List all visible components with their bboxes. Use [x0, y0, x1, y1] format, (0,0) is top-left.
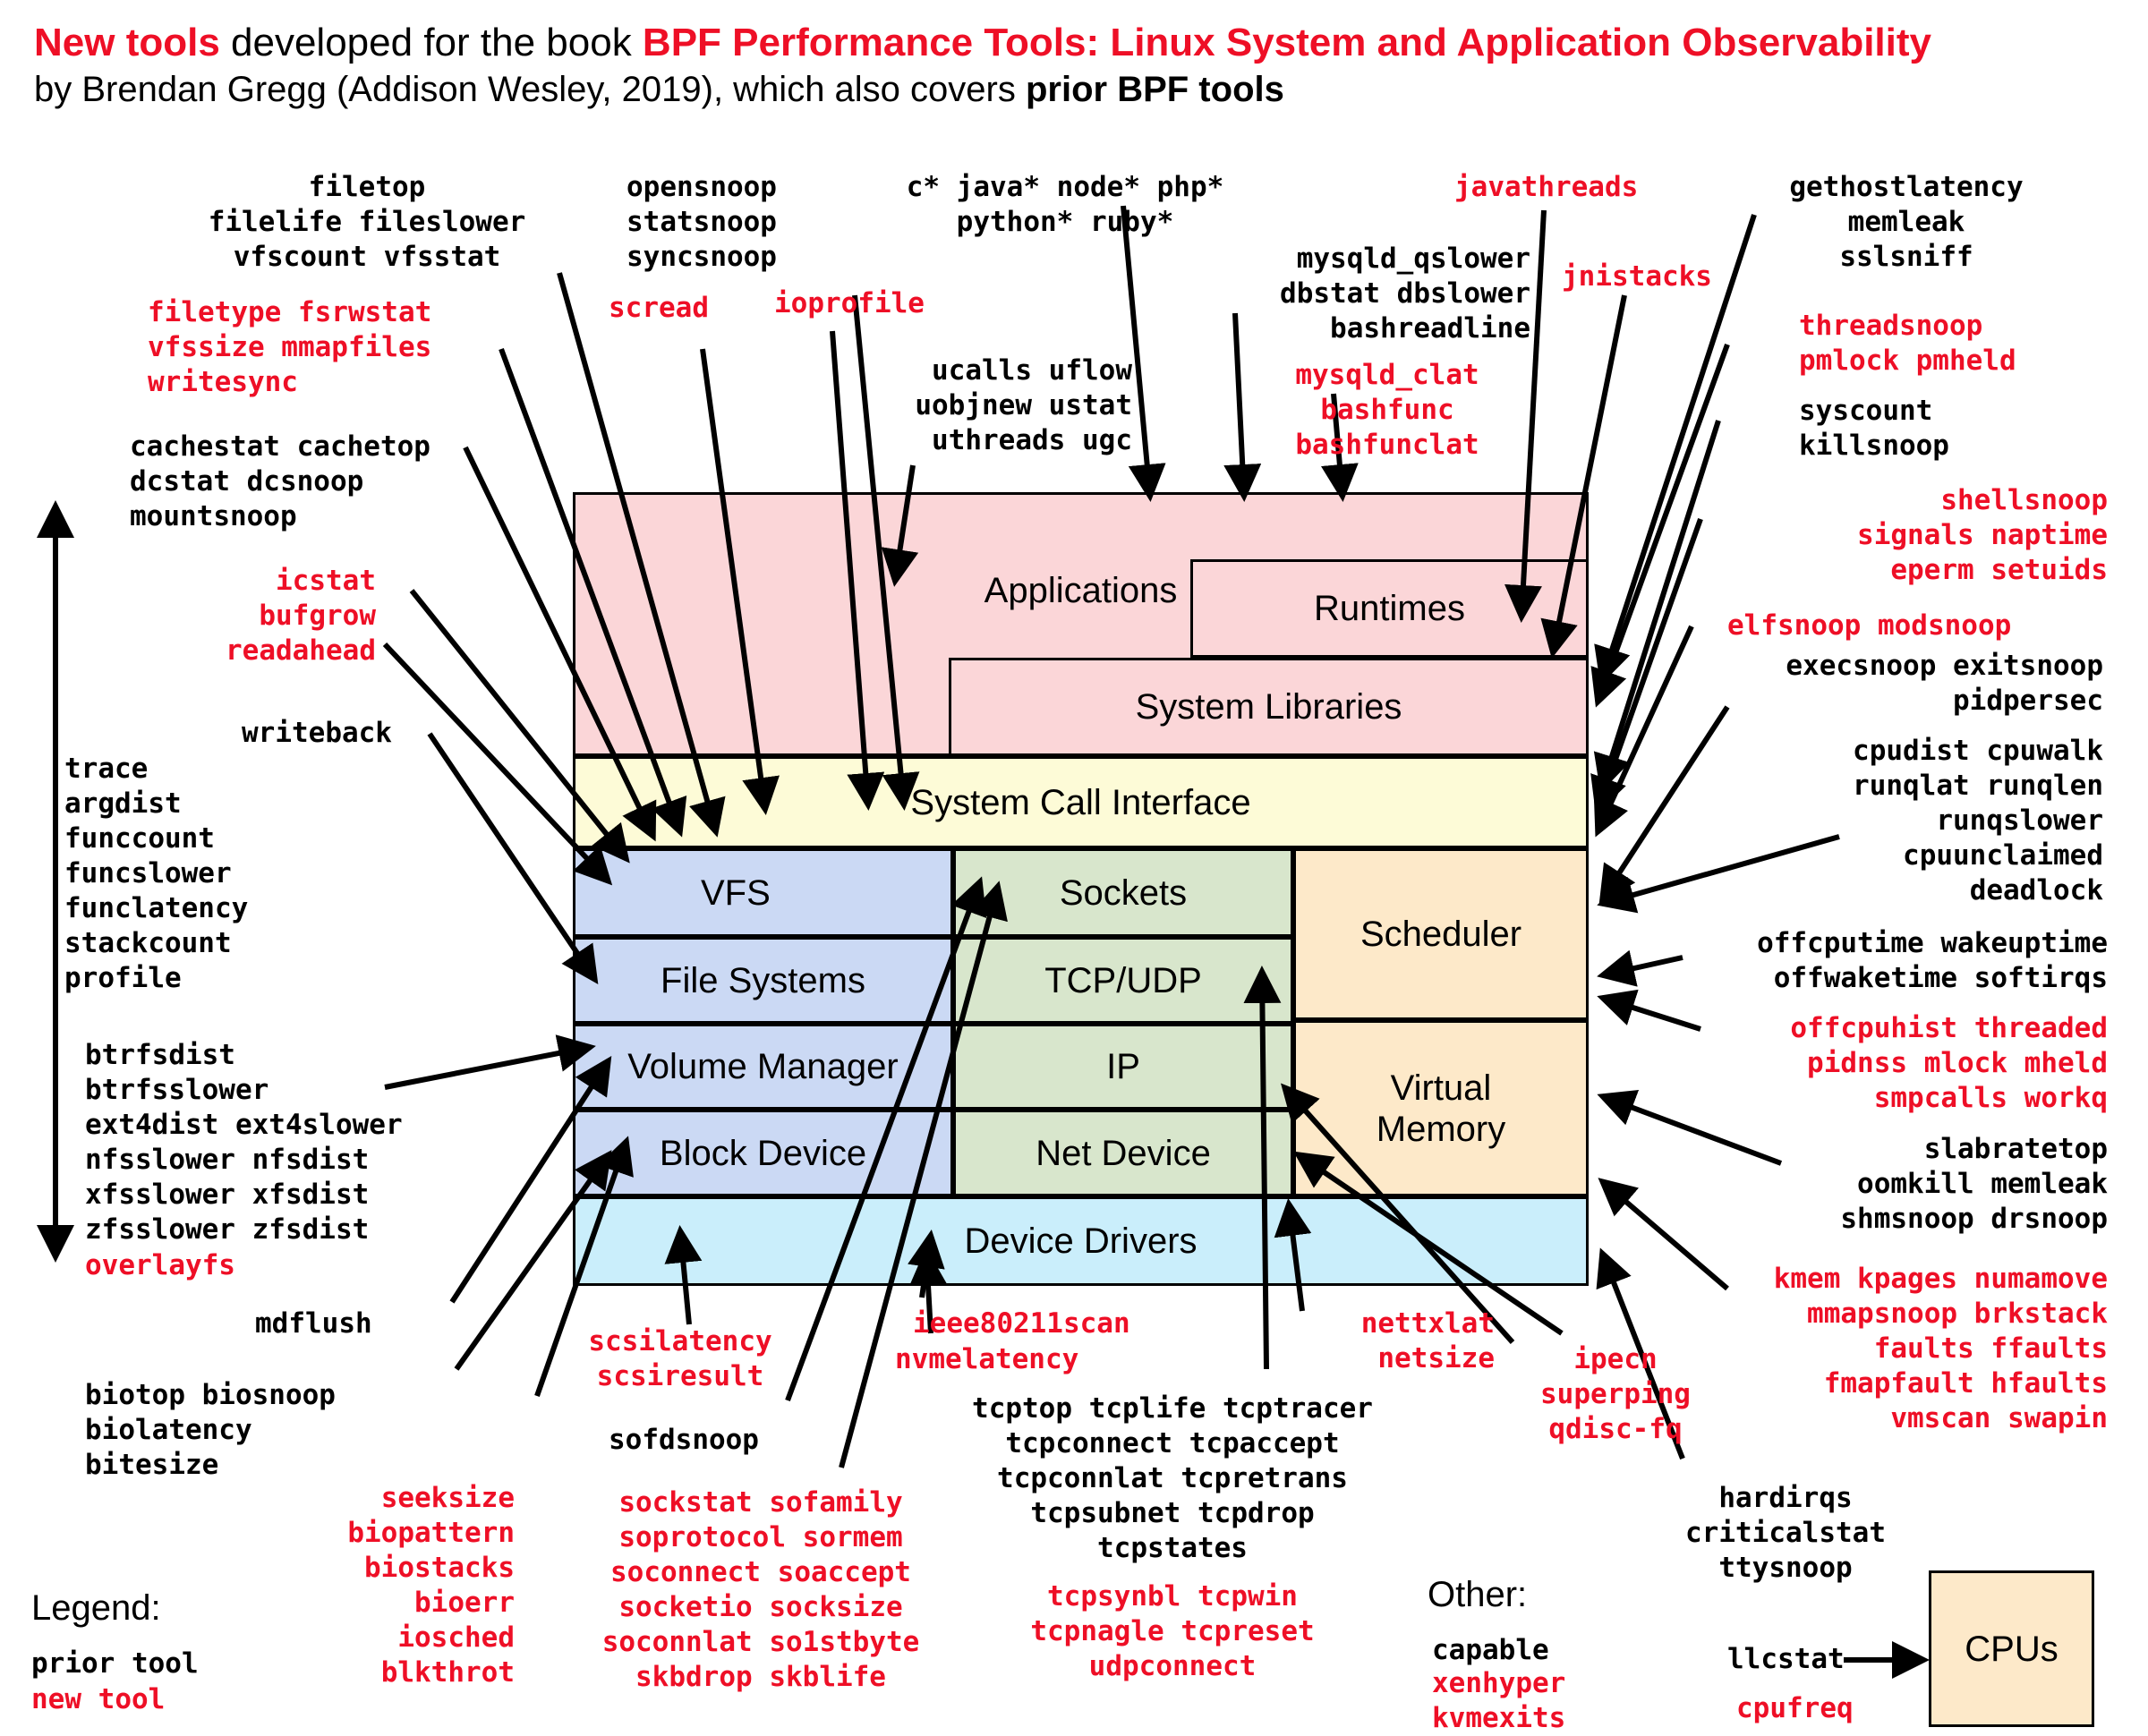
tool-group-sofdsnoop: sofdsnoop [609, 1423, 904, 1458]
other-new-tools: xenhyper kvmexits [1432, 1666, 1718, 1736]
stack-box-system-call-interface: System Call Interface [573, 756, 1589, 848]
stack-box-net-device: Net Device [953, 1110, 1293, 1196]
tool-group-slabratetop: slabratetop oomkill memleak shmsnoop drs… [1692, 1132, 2108, 1237]
stack-box-scheduler: Scheduler [1293, 848, 1589, 1020]
tool-group-syscount: syscount killsnoop [1799, 394, 2094, 464]
tool-group-overlayfs: overlayfs [85, 1248, 380, 1283]
legend-title: Legend: [31, 1588, 161, 1629]
tool-group-cpufreq: cpufreq [1736, 1691, 1942, 1726]
tool-group-javathreads: javathreads [1454, 170, 1750, 205]
tool-group-hardirqs: hardirqs criticalstat ttysnoop [1602, 1481, 1969, 1586]
file-systems-label: File Systems [661, 960, 865, 1001]
stack-box-sockets: Sockets [953, 848, 1293, 937]
tool-group-elfsnoop: elfsnoop modsnoop [1727, 608, 2112, 643]
runtimes-label: Runtimes [1314, 588, 1465, 629]
legend-prior-tool: prior tool [31, 1647, 318, 1681]
tool-group-writeback: writeback [242, 716, 528, 751]
tool-group-cachestat: cachestat cachetop dcstat dcsnoop mounts… [130, 430, 550, 534]
tool-group-languages: c* java* node* php* python* ruby* [841, 170, 1289, 240]
tool-group-icstat: icstat bufgrow readahead [54, 564, 376, 668]
tool-group-offcputime: offcputime wakeuptime offwaketime softir… [1656, 926, 2108, 996]
ip-label: IP [1106, 1046, 1140, 1087]
stack-box-cpus: CPUs [1929, 1570, 2094, 1727]
legend-new-tool: new tool [31, 1682, 318, 1717]
subtitle-author: by Brendan Gregg (Addison Wesley, 2019),… [34, 70, 1026, 109]
tool-group-nvmelatency: nvmelatency [895, 1342, 1199, 1377]
tool-group-sockstat: sockstat sofamily soprotocol sormem soco… [555, 1485, 967, 1695]
tool-group-gethostlatency: gethostlatency memleak sslsniff [1727, 170, 2085, 275]
tool-group-tcpsynbl: tcpsynbl tcpwin tcpnagle tcpreset udpcon… [984, 1579, 1360, 1684]
tool-group-mysqld-qslower: mysqld_qslower dbstat dbslower bashreadl… [1155, 242, 1530, 346]
tool-group-llcstat: llcstat [1727, 1642, 1933, 1677]
stack-box-block-device: Block Device [573, 1110, 953, 1196]
block-device-label: Block Device [660, 1133, 866, 1174]
tool-group-btrfsdist: btrfsdist btrfsslower ext4dist ext4slowe… [85, 1038, 550, 1247]
stack-box-tcp-udp: TCP/UDP [953, 937, 1293, 1024]
tool-group-tcptop: tcptop tcplife tcptracer tcpconnect tcpa… [922, 1391, 1423, 1566]
stack-box-file-systems: File Systems [573, 937, 953, 1024]
tcp-udp-label: TCP/UDP [1044, 960, 1202, 1001]
tool-group-offcpuhist: offcpuhist threaded pidnss mlock mheld s… [1674, 1011, 2108, 1116]
tool-group-ipecn: ipecn superping qdisc-fq [1481, 1342, 1750, 1447]
title-mid: developed for the book [220, 21, 643, 64]
cpus-label: CPUs [1965, 1629, 2058, 1670]
system-libraries-label: System Libraries [1136, 686, 1402, 728]
tool-group-filetop: filetop filelife fileslower vfscount vfs… [152, 170, 582, 275]
other-title: Other: [1428, 1575, 1527, 1615]
tool-group-ioprofile: ioprofile [774, 286, 1016, 321]
stack-box-vfs: VFS [573, 848, 953, 937]
device-drivers-label: Device Drivers [964, 1221, 1197, 1262]
tool-group-scsilatency: scsilatency scsiresult [537, 1324, 823, 1394]
stack-box-device-drivers: Device Drivers [573, 1196, 1589, 1286]
subtitle-prior-bpf: prior BPF tools [1026, 70, 1284, 109]
sockets-label: Sockets [1060, 872, 1187, 914]
tool-group-nettxlat: nettxlat netsize [1235, 1306, 1495, 1376]
tool-group-ucalls: ucalls uflow uobjnew ustat uthreads ugc [774, 353, 1132, 458]
volume-manager-label: Volume Manager [627, 1046, 898, 1087]
other-prior-tools: capable [1432, 1633, 1718, 1668]
scheduler-label: Scheduler [1360, 914, 1521, 955]
stack-box-virtual-memory: Virtual Memory [1293, 1020, 1589, 1196]
tool-group-ieee80211scan: ieee80211scan [913, 1306, 1226, 1341]
title-book: BPF Performance Tools: Linux System and … [643, 21, 1931, 64]
tool-group-threadsnoop: threadsnoop pmlock pmheld [1799, 309, 2103, 379]
page-title: New tools developed for the book BPF Per… [34, 20, 2119, 113]
tool-group-mdflush: mdflush [255, 1306, 506, 1341]
virtual-memory-label: Virtual Memory [1377, 1068, 1505, 1150]
stack-box-runtimes: Runtimes [1190, 559, 1589, 658]
tool-group-filetype: filetype fsrwstat vfssize mmapfiles writ… [148, 295, 559, 400]
stack-box-ip: IP [953, 1024, 1293, 1110]
vfs-label: VFS [701, 872, 771, 914]
tool-group-execsnoop: execsnoop exitsnoop pidpersec [1683, 649, 2103, 719]
tool-group-cpudist: cpudist cpuwalk runqlat runqlen runqslow… [1727, 734, 2103, 908]
tool-group-trace: trace argdist funccount funcslower funcl… [64, 752, 387, 996]
net-device-label: Net Device [1036, 1133, 1211, 1174]
title-new-tools: New tools [34, 21, 220, 64]
tool-group-mysqld-clat: mysqld_clat bashfunc bashfunclat [1253, 358, 1521, 463]
stack-box-system-libraries: System Libraries [949, 658, 1589, 756]
system-call-interface-label: System Call Interface [910, 782, 1250, 823]
stack-box-volume-manager: Volume Manager [573, 1024, 953, 1110]
tool-group-biotop: biotop biosnoop biolatency bitesize [85, 1378, 461, 1483]
tool-group-shellsnoop: shellsnoop signals naptime eperm setuids [1723, 483, 2108, 588]
diagram-canvas: New tools developed for the book BPF Per… [0, 0, 2148, 1734]
